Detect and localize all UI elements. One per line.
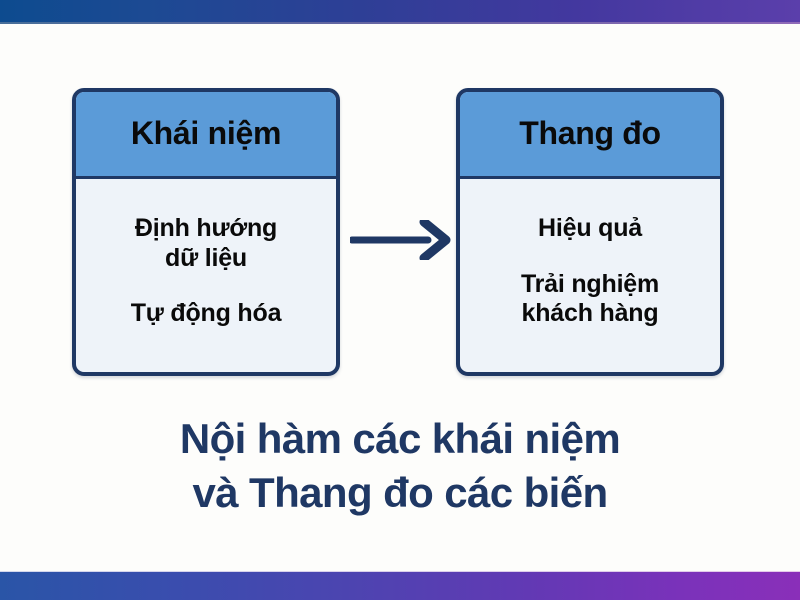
top-gradient-bar: [0, 0, 800, 22]
card-entry: Định hướng dữ liệu: [135, 214, 277, 273]
diagram-canvas: Khái niệm Định hướng dữ liệu Tự động hóa…: [0, 24, 800, 574]
card-header-thang-do: Thang đo: [460, 92, 720, 179]
card-body-thang-do: Hiệu quả Trải nghiệm khách hàng: [460, 179, 720, 372]
diagram-caption: Nội hàm các khái niệm và Thang đo các bi…: [0, 412, 800, 520]
card-header-label: Khái niệm: [131, 117, 281, 151]
card-entry: Trải nghiệm khách hàng: [521, 270, 659, 329]
card-entry: Tự động hóa: [131, 299, 282, 329]
arrow-right-icon: [350, 220, 454, 260]
bottom-gradient-bar: [0, 572, 800, 600]
card-body-khai-niem: Định hướng dữ liệu Tự động hóa: [76, 179, 336, 372]
card-entry: Hiệu quả: [538, 214, 642, 244]
card-header-label: Thang đo: [519, 117, 661, 151]
card-header-khai-niem: Khái niệm: [76, 92, 336, 179]
concept-card-thang-do: Thang đo Hiệu quả Trải nghiệm khách hàng: [456, 88, 724, 376]
concept-card-khai-niem: Khái niệm Định hướng dữ liệu Tự động hóa: [72, 88, 340, 376]
